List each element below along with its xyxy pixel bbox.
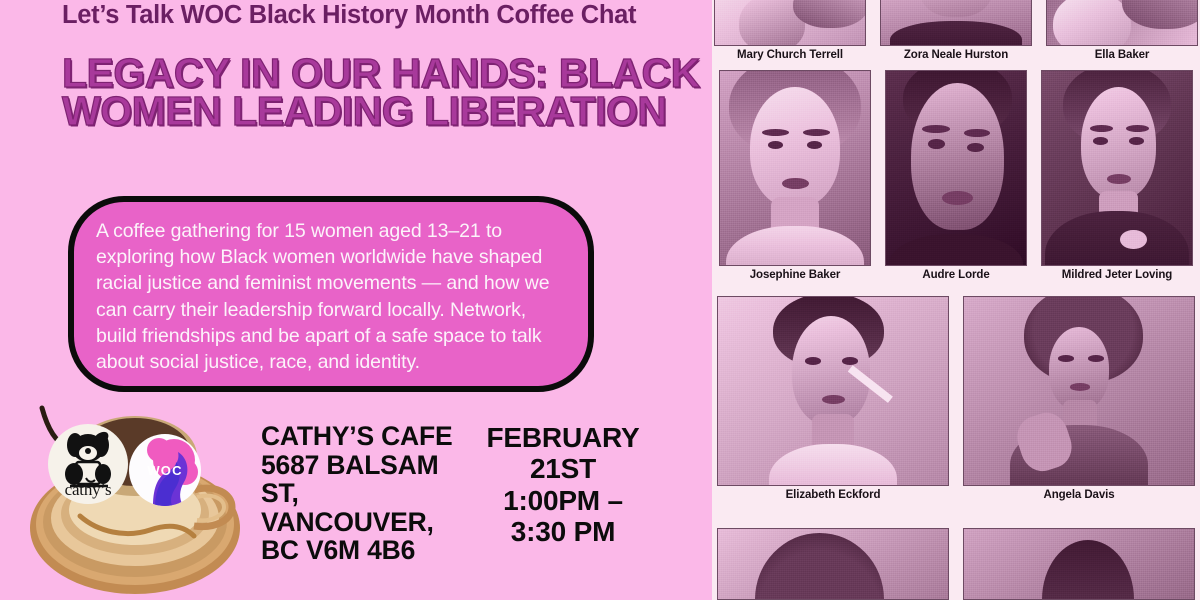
portrait-caption: Ella Baker: [1046, 49, 1198, 61]
portrait-cell: Josephine Baker: [719, 70, 871, 281]
collage-row-4: [712, 528, 1200, 600]
cathys-logo: cathy’s: [48, 424, 128, 504]
portrait-photo: [885, 70, 1027, 266]
portrait-photo: [717, 528, 949, 600]
cathys-logo-label: cathy’s: [48, 480, 128, 500]
portrait-caption: Zora Neale Hurston: [880, 49, 1032, 61]
woc-logo-label: WOC: [129, 463, 201, 478]
portrait-photo: [717, 296, 949, 486]
portrait-cell: Zora Neale Hurston: [880, 0, 1032, 61]
kicker-text: Let’s Talk WOC Black History Month Coffe…: [62, 2, 682, 28]
portrait-caption: Josephine Baker: [719, 269, 871, 281]
portrait-photo: [963, 528, 1195, 600]
portrait-cell: [717, 528, 949, 600]
left-content-panel: Let’s Talk WOC Black History Month Coffe…: [0, 0, 712, 600]
portrait-caption: Angela Davis: [963, 489, 1195, 501]
portrait-caption: Mildred Jeter Loving: [1041, 269, 1193, 281]
portrait-photo: [963, 296, 1195, 486]
collage-row-3: Elizabeth Eckford: [712, 296, 1200, 501]
portrait-photo: [1046, 0, 1198, 46]
collage-row-2: Josephine Baker: [712, 70, 1200, 281]
portrait-cell: Mildred Jeter Loving: [1041, 70, 1193, 281]
portrait-photo: [714, 0, 866, 46]
page-title: Legacy in our hands: Black women leading…: [62, 55, 712, 130]
portrait-cell: Audre Lorde: [885, 70, 1027, 281]
event-datetime: February 21st 1:00pm – 3:30 PM: [463, 422, 663, 547]
portrait-collage: Mary Church Terrell Zora Neale Hurston: [712, 0, 1200, 600]
portrait-photo: [719, 70, 871, 266]
portrait-cell: Angela Davis: [963, 296, 1195, 501]
portrait-photo: [880, 0, 1032, 46]
portrait-cell: Mary Church Terrell: [714, 0, 866, 61]
description-callout: A coffee gathering for 15 women aged 13–…: [68, 196, 594, 392]
portrait-cell: [963, 528, 1195, 600]
collage-row-1: Mary Church Terrell Zora Neale Hurston: [712, 0, 1200, 61]
portrait-caption: Audre Lorde: [885, 269, 1027, 281]
portrait-caption: Elizabeth Eckford: [717, 489, 949, 501]
woc-logo: WOC: [129, 434, 201, 506]
description-text: A coffee gathering for 15 women aged 13–…: [96, 218, 566, 375]
portrait-cell: Ella Baker: [1046, 0, 1198, 61]
portrait-cell: Elizabeth Eckford: [717, 296, 949, 501]
portrait-caption: Mary Church Terrell: [714, 49, 866, 61]
event-flyer: Let’s Talk WOC Black History Month Coffe…: [0, 0, 1200, 600]
venue-address: Cathy’s Cafe 5687 Balsam St, Vancouver, …: [261, 422, 461, 565]
portrait-photo: [1041, 70, 1193, 266]
